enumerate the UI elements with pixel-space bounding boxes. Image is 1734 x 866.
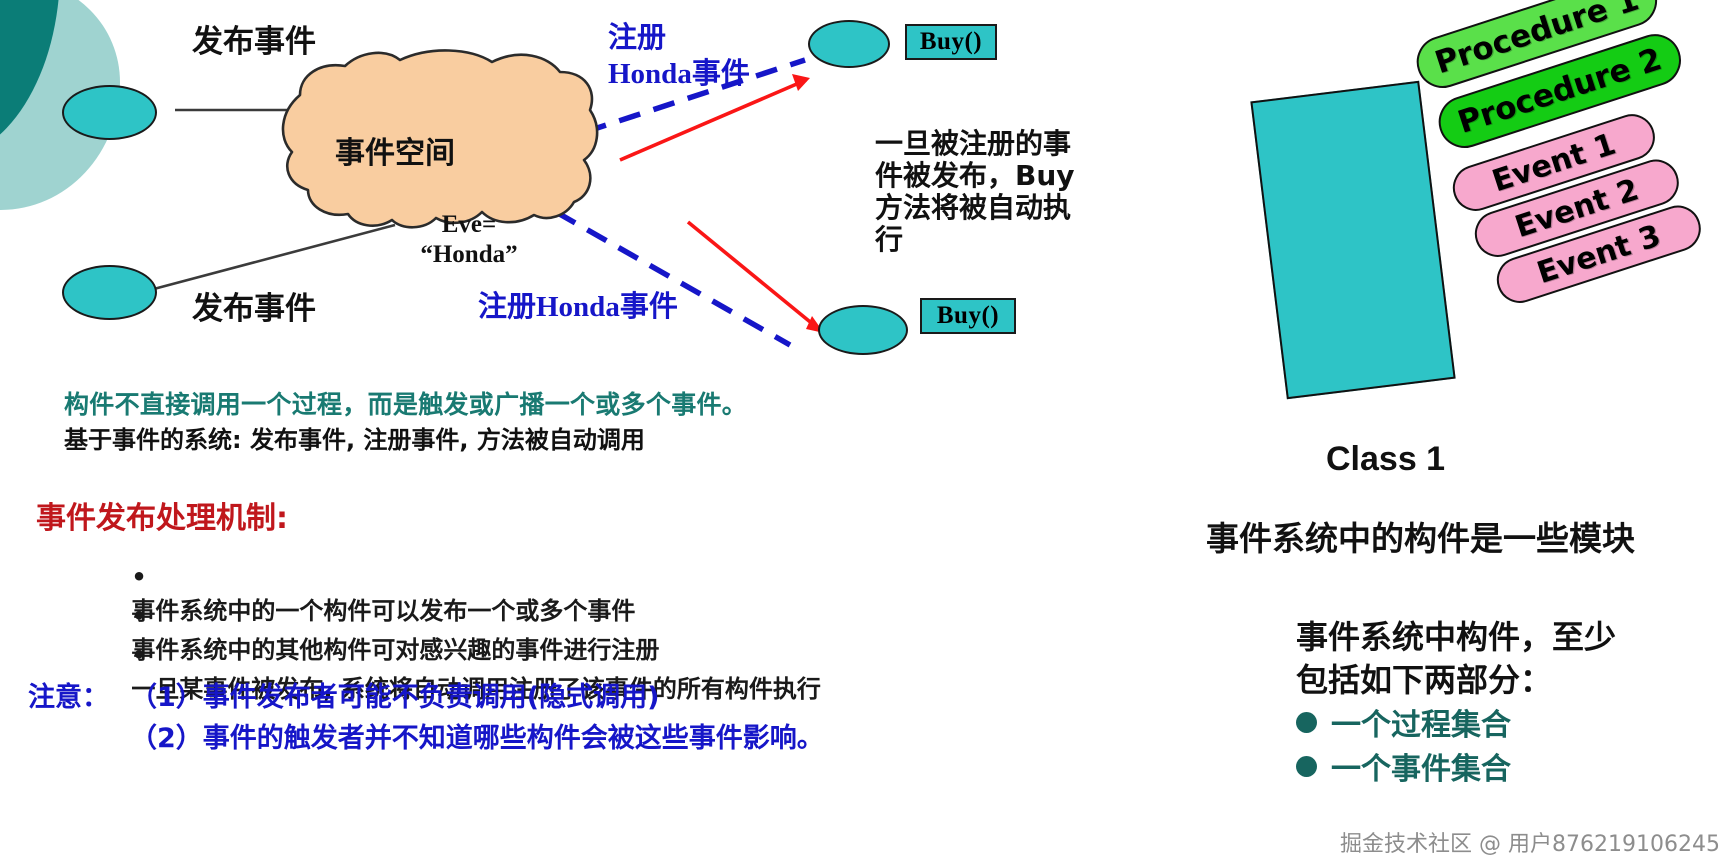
class-caption: Class 1 [1326,440,1445,479]
right-bullet-2-text: 一个事件集合 [1331,744,1511,788]
right-statement: 事件系统中的构件是一些模块 [1206,512,1635,560]
eve-assignment-line1: Eve= [384,210,554,240]
note-item-1: （1）事件发布者可能不负责调用(隐式调用) [130,675,659,714]
mechanism-bullet-3: • 一旦某事件被发布, 系统将自动调用注册了该事件的所有构件执行 [98,613,821,732]
component-ellipse-subscriber-top[interactable] [808,20,890,68]
right-bullet-2: 一个事件集合 [1296,744,1511,788]
buy-method-box-bottom[interactable]: Buy() [920,298,1016,334]
auto-execute-note: 一旦被注册的事件被发布，Buy方法将被自动执行 [875,128,1075,256]
publish-label-top: 发布事件 [192,16,316,61]
publish-label-bottom: 发布事件 [192,283,316,328]
right-sub-line1: 事件系统中构件，至少 [1296,612,1616,658]
watermark: 掘金技术社区 @ 用户876219106245 [1340,826,1720,858]
note-item-2: （2）事件的触发者并不知道哪些构件会被这些事件影响。 [130,716,824,755]
note-label: 注意： [28,675,109,714]
buy-method-box-top[interactable]: Buy() [905,24,997,60]
right-sub-line2: 包括如下两部分： [1296,655,1552,701]
bullet-dot-icon [1296,756,1317,777]
slide-canvas: Buy() Buy() 事件空间 Eve= “Honda” 发布事件 发布事件 … [0,0,1734,866]
summary-black-line: 基于事件的系统: 发布事件, 注册事件, 方法被自动调用 [64,420,645,455]
mechanism-heading: 事件发布处理机制: [36,493,288,537]
component-ellipse-publisher-top[interactable] [62,85,157,140]
register-label-top-line2: Honda事件 [608,50,750,92]
eve-assignment-label: Eve= “Honda” [384,210,554,269]
class-box[interactable] [1250,81,1455,399]
component-ellipse-publisher-bottom[interactable] [62,265,157,320]
summary-teal-line: 构件不直接调用一个过程，而是触发或广播一个或多个事件。 [64,385,747,421]
right-bullet-1-text: 一个过程集合 [1331,700,1511,744]
event-space-label: 事件空间 [335,128,455,172]
right-bullet-1: 一个过程集合 [1296,700,1511,744]
eve-assignment-line2: “Honda” [384,240,554,270]
bullet-dot: • [131,641,146,669]
component-ellipse-subscriber-bottom[interactable] [818,305,908,355]
register-label-bottom: 注册Honda事件 [478,283,678,325]
bullet-dot-icon [1296,712,1317,733]
